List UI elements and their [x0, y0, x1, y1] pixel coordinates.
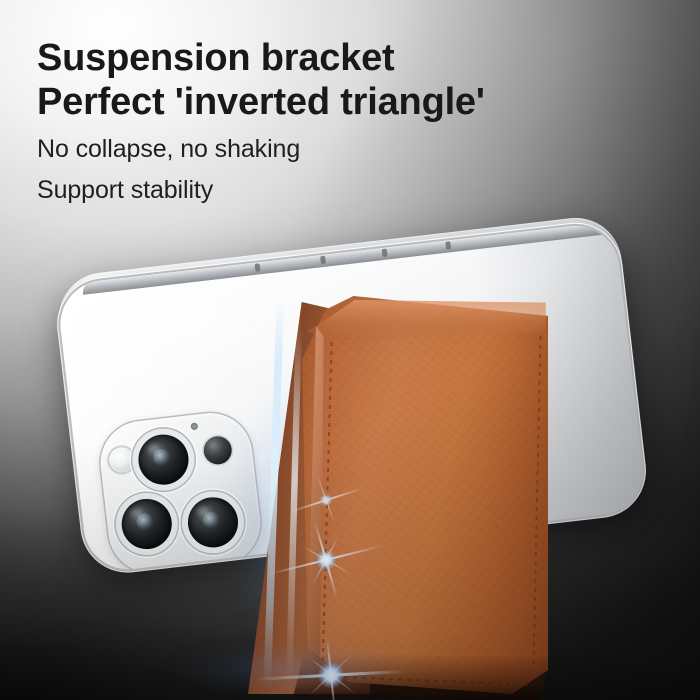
product-banner: Suspension bracket Perfect 'inverted tri…	[0, 0, 700, 700]
vignette-overlay	[0, 0, 700, 700]
